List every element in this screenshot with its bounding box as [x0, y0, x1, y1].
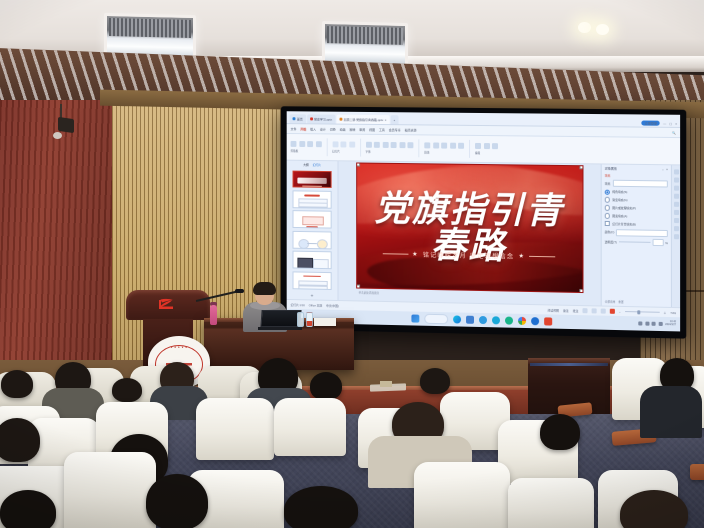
select-icon[interactable] — [492, 143, 498, 149]
ribbon-tab-view[interactable]: 视图 — [369, 127, 375, 131]
underline-icon[interactable] — [382, 142, 388, 148]
reading-view-button[interactable]: 阅读视图 — [548, 308, 559, 312]
language-label[interactable]: 中文(中国) — [326, 303, 339, 307]
mic-arm — [196, 290, 239, 301]
table-icon[interactable] — [673, 210, 678, 215]
system-tray[interactable]: 10:42 2024/3/27 — [639, 321, 676, 327]
slideshow-icon[interactable] — [610, 309, 615, 314]
subtitle-label: 铭记峥嵘岁月 坚定理想信念 — [423, 250, 515, 261]
zoom-in-icon[interactable]: ＋ — [663, 310, 666, 314]
close-icon[interactable]: × — [385, 118, 387, 122]
radio-icon — [605, 205, 610, 211]
audience-head — [540, 414, 580, 450]
align-center-icon[interactable] — [450, 143, 456, 149]
sub-rule-right — [529, 256, 555, 257]
tab-slides[interactable]: 幻灯片 — [313, 163, 321, 167]
transparency-label: 透明度(T) — [605, 240, 617, 244]
image-icon[interactable] — [673, 194, 678, 199]
color-label: 颜色(C) — [605, 230, 615, 234]
bullets-icon[interactable] — [424, 142, 430, 148]
comment-toggle[interactable]: 批注 — [573, 308, 579, 312]
thumb-panel-tabs: 大纲 幻灯片 — [287, 163, 338, 169]
wall-speaker — [58, 117, 74, 133]
tab-label: 党史学习.pptx — [314, 117, 332, 121]
start-button-icon[interactable] — [411, 314, 419, 322]
chair — [64, 452, 156, 528]
option-gradient-fill[interactable]: 渐变填充(G) — [605, 197, 668, 203]
ribbon-tab-animation[interactable]: 动画 — [340, 127, 346, 131]
paste-icon[interactable] — [291, 141, 297, 147]
tab-doc-2[interactable]: 党史学习.pptx — [307, 114, 335, 123]
checkbox-icon — [605, 221, 610, 227]
minimize-icon[interactable]: — — [663, 121, 666, 125]
ppt-icon — [310, 117, 313, 120]
taskbar-clock[interactable]: 10:42 2024/3/27 — [665, 321, 676, 327]
tab-label: 主题二讲-党旗指引青春路.pptx — [343, 117, 383, 121]
ribbon-tab-tools[interactable]: 工具 — [379, 127, 385, 131]
shapes-icon[interactable] — [673, 186, 678, 191]
speaker-hair — [253, 282, 276, 295]
right-icon-rail[interactable] — [671, 165, 680, 307]
cloud-icon[interactable] — [673, 234, 678, 239]
panel-close-icon[interactable]: × — [666, 167, 668, 171]
clock-date: 2024/3/27 — [665, 323, 676, 326]
reading-view-icon[interactable] — [601, 309, 606, 314]
ime-icon[interactable] — [659, 322, 663, 326]
panel-title: 对象属性 — [605, 167, 617, 171]
audience-head — [420, 368, 450, 394]
fill-section-label: 填充 — [605, 173, 668, 178]
transparency-row: 透明度(T) % — [605, 239, 668, 247]
dingtalk-icon[interactable] — [504, 317, 512, 325]
fill-dropdown[interactable] — [612, 180, 667, 188]
audience-head — [0, 418, 40, 462]
object-properties-panel[interactable]: 对象属性 ⌄ × 填充 填充 纯色填充(S) — [601, 164, 671, 307]
panel-footer: 全部应用 重置 — [605, 300, 668, 305]
sorter-view-icon[interactable] — [592, 308, 597, 313]
home-icon — [293, 117, 296, 120]
dome-camera-icon — [53, 132, 62, 139]
stage-object-box — [380, 381, 392, 387]
file-explorer-icon[interactable] — [466, 316, 474, 324]
apply-all-button[interactable]: 全部应用 — [605, 300, 616, 304]
replace-icon[interactable] — [483, 143, 489, 149]
notes-toggle[interactable]: 备注 — [563, 308, 569, 312]
group-label: 字体 — [366, 150, 371, 154]
new-tab-button[interactable]: + — [390, 115, 398, 124]
panel-header: 对象属性 ⌄ × — [605, 167, 668, 172]
normal-view-icon[interactable] — [582, 308, 587, 313]
microphone — [196, 288, 246, 304]
ribbon-group-editing: 编辑 — [475, 143, 498, 155]
ribbon-group-paragraph: 段落 — [424, 142, 464, 154]
star-icon: ★ — [518, 253, 525, 260]
option-label: 图案填充(A) — [612, 214, 627, 218]
strikethrough-icon[interactable] — [391, 142, 397, 148]
ribbon-tab-transition[interactable]: 切换 — [330, 127, 336, 131]
workspace: 大纲 幻灯片 1 2 — [287, 161, 680, 308]
audience-head — [0, 490, 56, 528]
fill-row: 填充 — [605, 180, 668, 188]
audience-head — [1, 370, 33, 398]
color-row: 颜色(C) — [605, 229, 668, 237]
ribbon-tab-file[interactable]: 文件 — [291, 127, 297, 131]
copy-icon[interactable] — [299, 141, 305, 147]
zoom-level-label[interactable]: 74% — [670, 310, 676, 314]
radio-icon — [605, 189, 610, 195]
transparency-slider[interactable] — [619, 242, 650, 244]
color-picker[interactable] — [616, 229, 667, 237]
thumb-title-bar — [297, 177, 326, 183]
animation-icon[interactable] — [673, 218, 678, 223]
italic-icon[interactable] — [374, 142, 380, 148]
transparency-unit: % — [665, 241, 668, 245]
ribbon-tab-design[interactable]: 设计 — [320, 127, 326, 131]
laptop-screen — [260, 310, 301, 327]
login-button[interactable]: 立即登录 — [642, 121, 660, 126]
chair — [508, 478, 594, 528]
star-icon: ★ — [412, 251, 419, 258]
papers — [314, 318, 336, 326]
tab-outline[interactable]: 大纲 — [303, 163, 308, 167]
volume-icon[interactable] — [652, 322, 656, 326]
chart-icon[interactable] — [673, 202, 678, 207]
wps-office-window[interactable]: 首页 党史学习.pptx 主题二讲-党旗指引青春路.pptx × + — [287, 111, 680, 331]
water-bottle — [297, 312, 304, 327]
chrome-icon[interactable] — [518, 317, 526, 325]
design-icon[interactable] — [673, 177, 678, 182]
radio-icon — [605, 197, 610, 203]
audience-head — [112, 378, 142, 402]
downlight-icon — [578, 22, 591, 33]
slide-editing-area[interactable]: 党旗指引青春路 ★ 铭记峥嵘岁月 坚定理想信念 ★ — [338, 161, 600, 305]
ribbon-tab-slideshow[interactable]: 放映 — [349, 127, 355, 131]
new-slide-icon[interactable] — [332, 141, 338, 147]
laptop — [258, 310, 302, 328]
lecture-hall-photo: 首页 党史学习.pptx 主题二讲-党旗指引青春路.pptx × + — [0, 0, 704, 528]
network-icon[interactable] — [645, 322, 649, 326]
search-icon[interactable]: 🔍 — [672, 130, 676, 134]
ribbon-tab-insert[interactable]: 插入 — [310, 127, 316, 131]
group-label: 编辑 — [475, 151, 480, 155]
slide-thumb-3[interactable]: 3 — [293, 210, 332, 228]
notes-placeholder: 单击此处添加备注 — [357, 291, 582, 300]
ribbon-group-font: 字体 — [366, 142, 414, 154]
slide-thumb-4[interactable]: 4 — [293, 231, 332, 249]
lectern-led-strip — [530, 363, 608, 366]
ribbon-group-clipboard: 剪贴板 — [291, 141, 322, 153]
option-pattern-fill[interactable]: 图案填充(A) — [605, 213, 668, 219]
ribbon-tab-resources[interactable]: 稻壳资源 — [405, 128, 417, 132]
tab-label: 首页 — [297, 117, 303, 121]
reset-button[interactable]: 重置 — [618, 300, 623, 304]
group-label: 剪贴板 — [291, 149, 299, 153]
highlight-icon[interactable] — [407, 142, 413, 148]
slide-counter: 幻灯片 1/16 — [291, 302, 305, 306]
panel-pin-icon[interactable]: ⌄ — [662, 167, 664, 171]
option-background-fill[interactable]: 幻灯片背景填充(B) — [605, 221, 668, 227]
theme-label[interactable]: Office 主题 — [309, 303, 322, 307]
bold-icon[interactable] — [366, 142, 372, 148]
downlight-icon — [596, 24, 609, 35]
option-picture-fill[interactable]: 图片或纹理填充(P) — [605, 205, 668, 211]
chevron-up-icon[interactable] — [639, 321, 643, 325]
wall-left-red — [0, 100, 118, 400]
option-label: 幻灯片背景填充(B) — [612, 222, 636, 226]
font-color-icon[interactable] — [399, 142, 405, 148]
titlebar-right-controls: 立即登录 — ▢ × — [642, 121, 677, 127]
qq-icon[interactable] — [491, 316, 499, 324]
option-solid-fill[interactable]: 纯色填充(S) — [605, 189, 668, 195]
transparency-value-field[interactable] — [652, 239, 663, 246]
resource-icon[interactable] — [673, 226, 678, 231]
audience-shoulders — [640, 386, 702, 438]
thumb-sub-bar — [302, 185, 322, 187]
slide-thumb-5[interactable]: 5 — [293, 251, 332, 269]
projection-screen: 首页 党史学习.pptx 主题二讲-党旗指引青春路.pptx × + — [281, 106, 686, 338]
audience-head — [146, 474, 208, 528]
sub-rule-left — [383, 253, 409, 254]
ribbon-tab-home[interactable]: 开始 — [300, 127, 306, 131]
slide-thumb-1[interactable]: 1 — [293, 170, 332, 188]
group-label: 幻灯片 — [332, 149, 340, 153]
current-slide[interactable]: 党旗指引青春路 ★ 铭记峥嵘岁月 坚定理想信念 ★ — [357, 163, 582, 292]
seal-text: ★ ★ ★ ★ ★ — [148, 346, 210, 349]
ribbon-tab-review[interactable]: 审阅 — [359, 127, 365, 131]
chair-armrest — [690, 464, 704, 480]
wechat-icon[interactable] — [479, 316, 487, 324]
chair — [196, 398, 274, 460]
section-icon[interactable] — [349, 142, 355, 148]
format-painter-icon[interactable] — [315, 141, 321, 147]
plus-icon: + — [393, 118, 395, 122]
tab-home[interactable]: 首页 — [290, 114, 306, 123]
slide-thumb-6[interactable]: 6 — [293, 271, 332, 290]
group-label: 段落 — [424, 150, 429, 154]
line-spacing-icon[interactable] — [458, 143, 464, 149]
pink-thermos — [210, 305, 217, 325]
wps-icon[interactable] — [544, 317, 552, 325]
tab-doc-active[interactable]: 主题二讲-党旗指引青春路.pptx × — [336, 115, 389, 124]
properties-icon[interactable] — [673, 169, 678, 174]
radio-icon — [605, 213, 610, 219]
slide-thumbnail-panel[interactable]: 大纲 幻灯片 1 2 — [287, 161, 339, 300]
numbering-icon[interactable] — [433, 142, 439, 148]
option-label: 纯色填充(S) — [612, 190, 627, 194]
audience-head — [284, 486, 358, 528]
layout-icon[interactable] — [340, 141, 346, 147]
option-label: 渐变填充(G) — [612, 198, 627, 202]
slide-thumb-2[interactable]: 2 — [293, 190, 332, 208]
chair — [414, 462, 510, 528]
maximize-icon[interactable]: ▢ — [669, 121, 672, 125]
zoom-out-icon[interactable]: − — [619, 309, 621, 313]
ribbon-group-slides: 幻灯片 — [332, 141, 355, 153]
edge-icon[interactable] — [453, 315, 461, 323]
ribbon-tab-member[interactable]: 会员专享 — [389, 128, 401, 132]
option-label: 图片或纹理填充(P) — [612, 206, 636, 210]
taskbar-search-box[interactable] — [424, 314, 448, 324]
communist-party-emblem-icon — [156, 297, 178, 312]
audience-head — [310, 372, 342, 400]
align-left-icon[interactable] — [441, 143, 447, 149]
cut-icon[interactable] — [307, 141, 313, 147]
screen-surface: 首页 党史学习.pptx 主题二讲-党旗指引青春路.pptx × + — [287, 111, 680, 331]
find-icon[interactable] — [475, 143, 481, 149]
ppt-icon — [339, 118, 342, 121]
close-window-icon[interactable]: × — [675, 121, 677, 125]
zoom-slider[interactable] — [625, 311, 660, 313]
laptop-base — [258, 327, 302, 330]
water-bottle — [306, 312, 313, 327]
chair — [274, 398, 346, 456]
word-icon[interactable] — [531, 317, 539, 325]
fill-label: 填充 — [605, 181, 611, 185]
